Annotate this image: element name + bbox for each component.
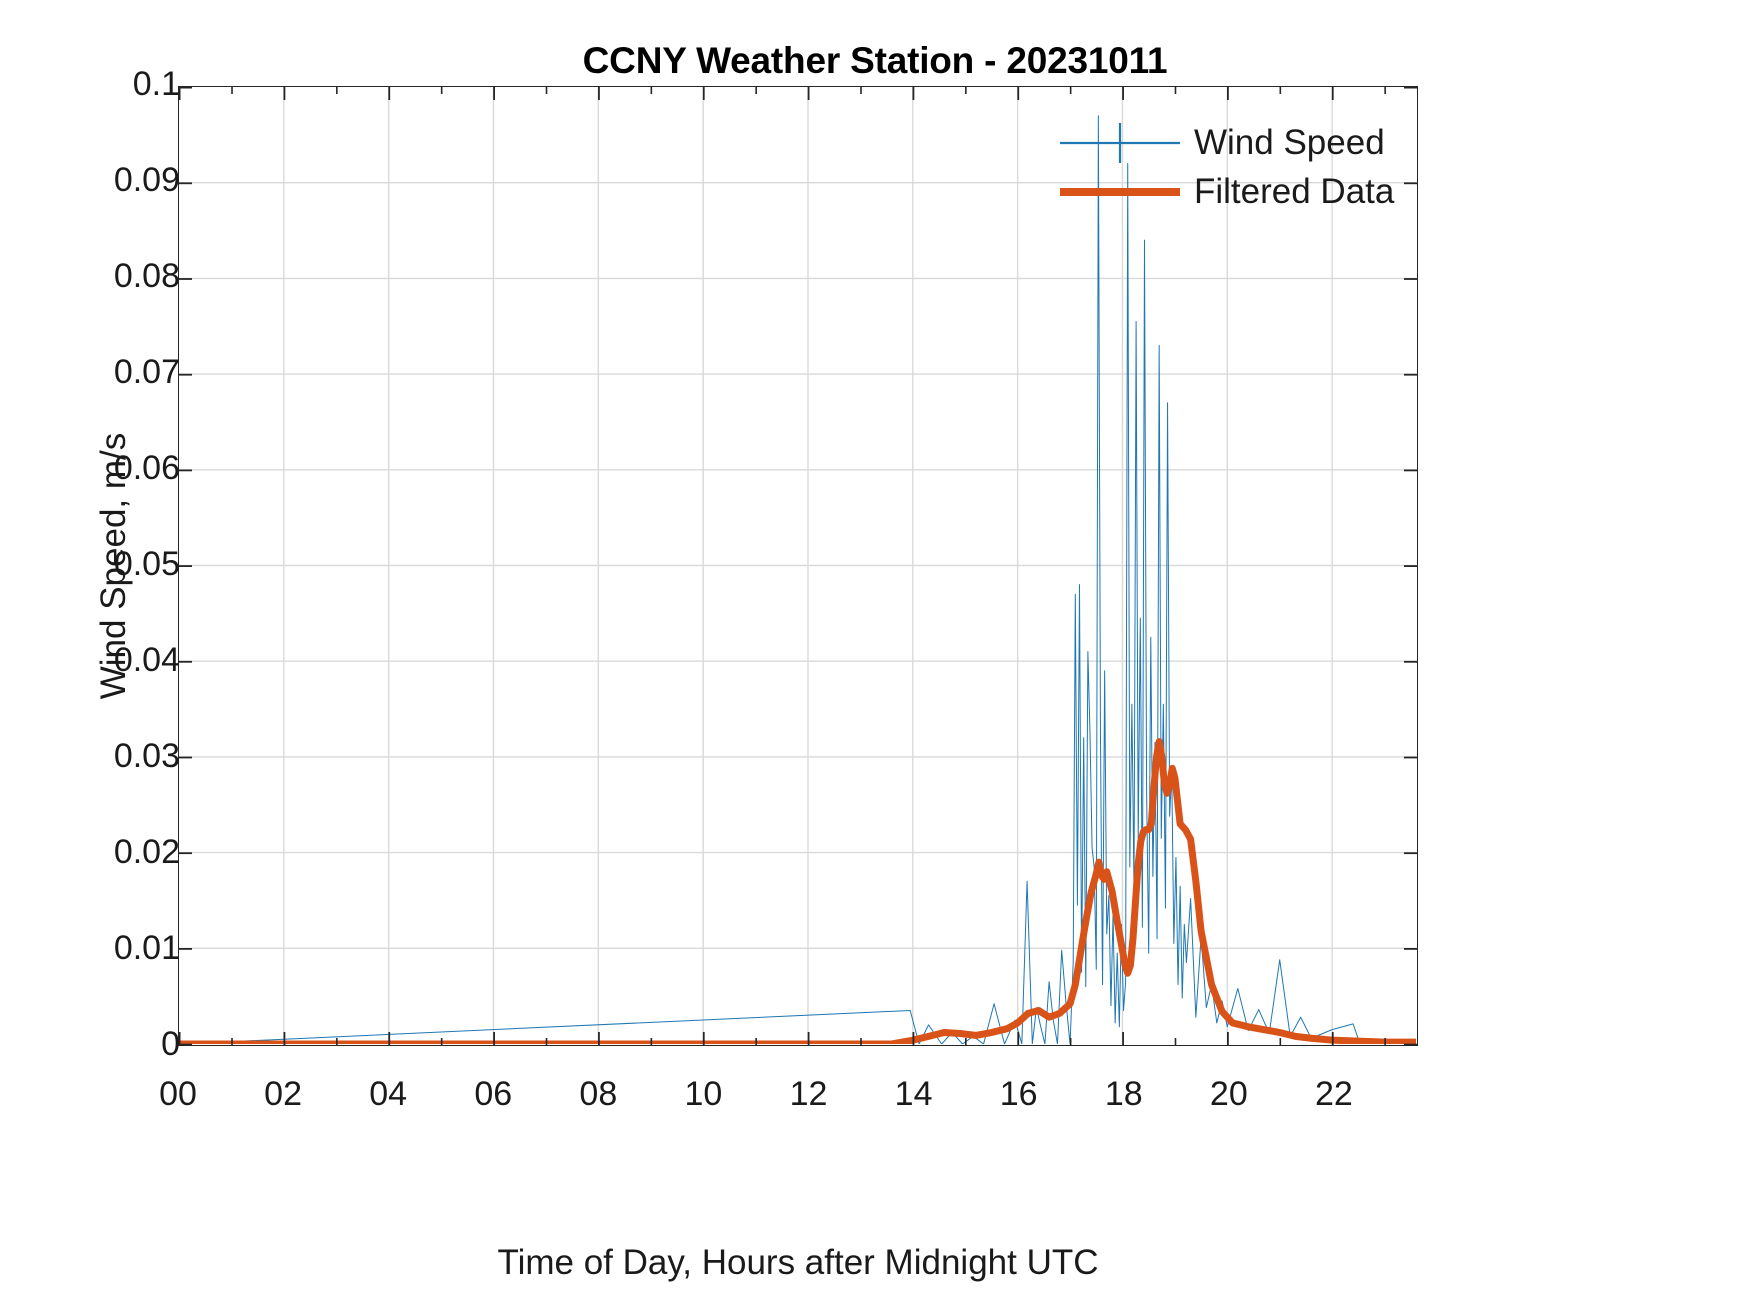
x-tick-label: 18: [1064, 1077, 1184, 1111]
x-tick-label: 02: [223, 1077, 343, 1111]
legend-label-wind-speed: Wind Speed: [1194, 123, 1385, 163]
legend-item-filtered-data[interactable]: Filtered Data: [1060, 170, 1400, 214]
legend-label-filtered-data: Filtered Data: [1194, 172, 1394, 212]
x-tick-label: 20: [1169, 1077, 1289, 1111]
y-tick-label: 0.02: [30, 835, 180, 869]
y-tick-label: 0.08: [30, 259, 180, 293]
x-tick-label: 10: [643, 1077, 763, 1111]
y-tick-label: 0.03: [30, 739, 180, 773]
y-tick-label: 0.04: [30, 643, 180, 677]
y-tick-label: 0.01: [30, 931, 180, 965]
figure-canvas: CCNY Weather Station - 20231011 Wind Spe…: [0, 0, 1750, 1313]
y-tick-label: 0.06: [30, 451, 180, 485]
y-tick-label: 0.05: [30, 547, 180, 581]
x-tick-label: 04: [328, 1077, 448, 1111]
x-tick-label: 14: [854, 1077, 974, 1111]
x-tick-label: 22: [1274, 1077, 1394, 1111]
y-tick-label: 0.1: [30, 67, 180, 101]
x-tick-label: 12: [749, 1077, 869, 1111]
x-tick-label: 08: [538, 1077, 658, 1111]
page-title: CCNY Weather Station - 20231011: [0, 40, 1750, 82]
y-tick-label: 0: [30, 1027, 180, 1061]
x-tick-label: 00: [118, 1077, 238, 1111]
x-axis-label: Time of Day, Hours after Midnight UTC: [178, 1243, 1418, 1283]
legend-swatch-filtered-data: [1060, 181, 1180, 203]
legend[interactable]: Wind Speed Filtered Data: [1060, 118, 1400, 216]
legend-swatch-wind-speed: [1060, 132, 1180, 154]
y-tick-label: 0.07: [30, 355, 180, 389]
x-tick-label: 06: [433, 1077, 553, 1111]
legend-item-wind-speed[interactable]: Wind Speed: [1060, 121, 1400, 165]
x-tick-label: 16: [959, 1077, 1079, 1111]
y-tick-label: 0.09: [30, 163, 180, 197]
axis-ticks: [178, 86, 1418, 1046]
